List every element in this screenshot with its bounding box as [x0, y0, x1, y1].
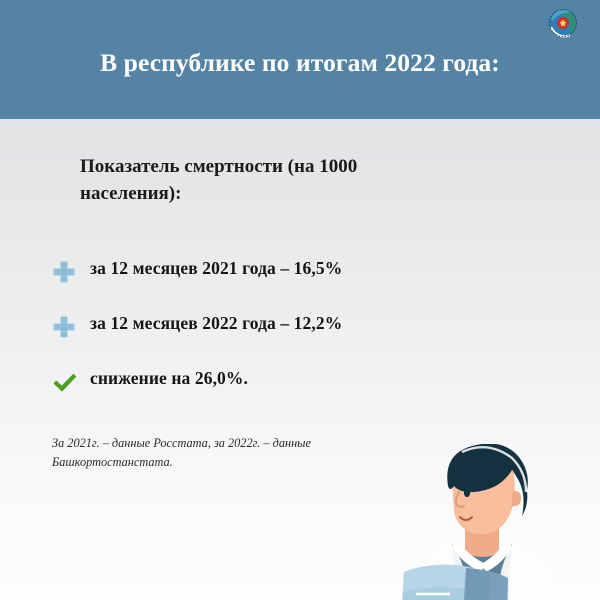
- list-item-label: за 12 месяцев 2021 года – 16,5%: [90, 258, 342, 279]
- metric-subheading: Показатель смертности (на 1000 населения…: [80, 154, 425, 208]
- list-item-label: за 12 месяцев 2022 года – 12,2%: [90, 313, 342, 334]
- ministry-emblem-icon: [545, 6, 581, 42]
- main-content: Показатель смертности (на 1000 населения…: [0, 119, 600, 600]
- check-mark-icon: [52, 372, 78, 394]
- medical-cross-icon: [52, 260, 76, 284]
- doctor-with-clipboard-illustration: [378, 444, 600, 600]
- medical-cross-icon: [52, 315, 76, 339]
- page-title: В республике по итогам 2022 года:: [0, 48, 600, 77]
- list-item: за 12 месяцев 2022 года – 12,2%: [52, 309, 452, 364]
- list-item-label: снижение на 26,0%.: [90, 368, 248, 389]
- infographic-poster: В республике по итогам 2022 года: Показа…: [0, 0, 600, 600]
- source-footnote: За 2021г. – данные Росстата, за 2022г. –…: [52, 434, 382, 472]
- header-banner: В республике по итогам 2022 года:: [0, 0, 600, 119]
- list-item: за 12 месяцев 2021 года – 16,5%: [52, 254, 452, 309]
- list-item: снижение на 26,0%.: [52, 364, 452, 419]
- statistics-list: за 12 месяцев 2021 года – 16,5% за 12 ме…: [52, 254, 452, 419]
